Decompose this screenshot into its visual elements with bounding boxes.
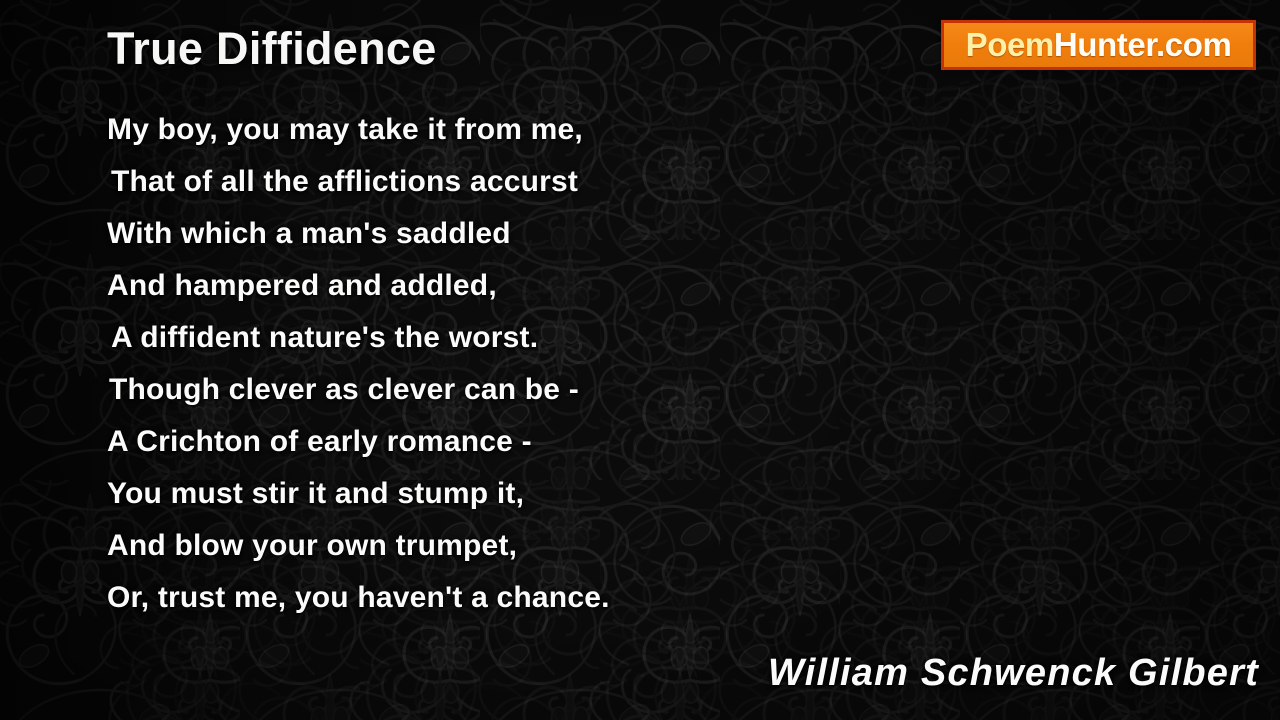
author-name: William Schwenck Gilbert <box>768 652 1259 695</box>
poem-line: A diffident nature's the worst. <box>0 312 760 364</box>
poem-line: And blow your own trumpet, <box>0 520 760 572</box>
poem-line: That of all the afflictions accurst <box>0 156 760 208</box>
poem-line: You must stir it and stump it, <box>0 468 760 520</box>
poem-card: True Diffidence PoemHunter.com My boy, y… <box>0 0 1280 720</box>
poem-line: Though clever as clever can be - <box>0 364 760 416</box>
poem-line: Or, trust me, you haven't a chance. <box>0 572 760 624</box>
poem-line: With which a man's saddled <box>0 208 760 260</box>
poemhunter-logo[interactable]: PoemHunter.com <box>941 20 1256 70</box>
logo-text-hunter: Hunter.com <box>1054 26 1232 63</box>
logo-text: PoemHunter.com <box>966 28 1232 61</box>
page-title: True Diffidence <box>107 26 437 71</box>
poem-line: My boy, you may take it from me, <box>0 104 760 156</box>
poem-line: And hampered and addled, <box>0 260 760 312</box>
logo-text-poem: Poem <box>966 26 1054 63</box>
poem-line: A Crichton of early romance - <box>0 416 760 468</box>
poem-body: My boy, you may take it from me, That of… <box>0 104 760 624</box>
